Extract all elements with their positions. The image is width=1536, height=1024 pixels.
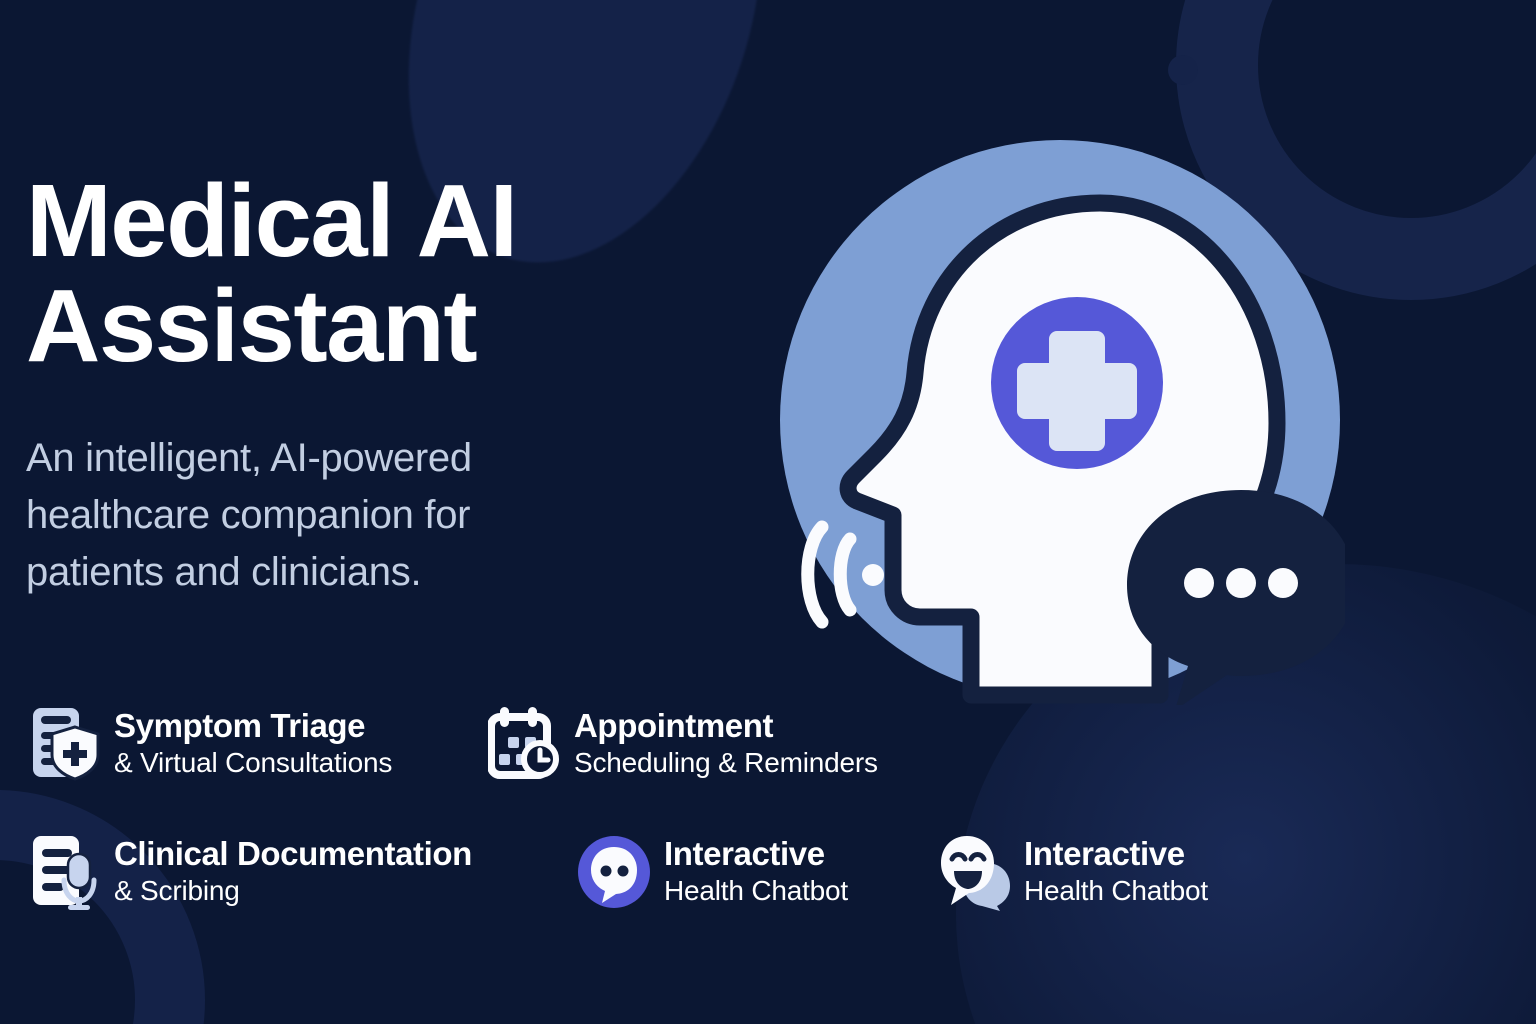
feature-item-interactive-health-chatbot-smiley[interactable]: Interactive Health Chatbot — [938, 833, 1208, 911]
document-shield-plus-icon — [28, 705, 100, 783]
document-microphone-icon — [28, 833, 100, 911]
feature-subtitle: Scheduling & Reminders — [574, 746, 878, 780]
feature-title: Symptom Triage — [114, 707, 392, 746]
feature-text: Interactive Health Chatbot — [664, 833, 848, 908]
ai-head-medical-chat-illustration — [775, 135, 1345, 705]
feature-item-interactive-health-chatbot-purple[interactable]: Interactive Health Chatbot — [578, 833, 848, 911]
poster-canvas: Medical AI Assistant An intelligent, AI-… — [0, 0, 1536, 1024]
feature-text: Appointment Scheduling & Reminders — [574, 705, 878, 780]
feature-text: Symptom Triage & Virtual Consultations — [114, 705, 392, 780]
speech-dot-1 — [1184, 568, 1214, 598]
feature-item-appointment[interactable]: Appointment Scheduling & Reminders — [488, 705, 878, 783]
feature-subtitle: Health Chatbot — [664, 874, 848, 908]
feature-item-clinical-documentation[interactable]: Clinical Documentation & Scribing — [28, 833, 472, 911]
feature-text: Interactive Health Chatbot — [1024, 833, 1208, 908]
speech-dot-3 — [1268, 568, 1298, 598]
feature-subtitle: Health Chatbot — [1024, 874, 1208, 908]
page-title: Medical AI Assistant — [26, 168, 666, 378]
feature-text: Clinical Documentation & Scribing — [114, 833, 472, 908]
page-subtitle: An intelligent, AI-powered healthcare co… — [26, 430, 666, 602]
speech-dot-2 — [1226, 568, 1256, 598]
feature-subtitle: & Virtual Consultations — [114, 746, 392, 780]
feature-title: Appointment — [574, 707, 878, 746]
headline-block: Medical AI Assistant An intelligent, AI-… — [26, 168, 666, 602]
feature-subtitle: & Scribing — [114, 874, 472, 908]
voice-wave-dot — [862, 564, 884, 586]
feature-title: Interactive — [1024, 835, 1208, 874]
feature-title: Interactive — [664, 835, 848, 874]
feature-title: Clinical Documentation — [114, 835, 472, 874]
calendar-clock-icon — [488, 705, 560, 783]
smiling-chat-bubble-icon — [938, 833, 1010, 911]
chat-bubble-circle-icon — [578, 833, 650, 911]
decorative-dot-top-right — [1168, 55, 1198, 85]
feature-item-symptom-triage[interactable]: Symptom Triage & Virtual Consultations — [28, 705, 392, 783]
